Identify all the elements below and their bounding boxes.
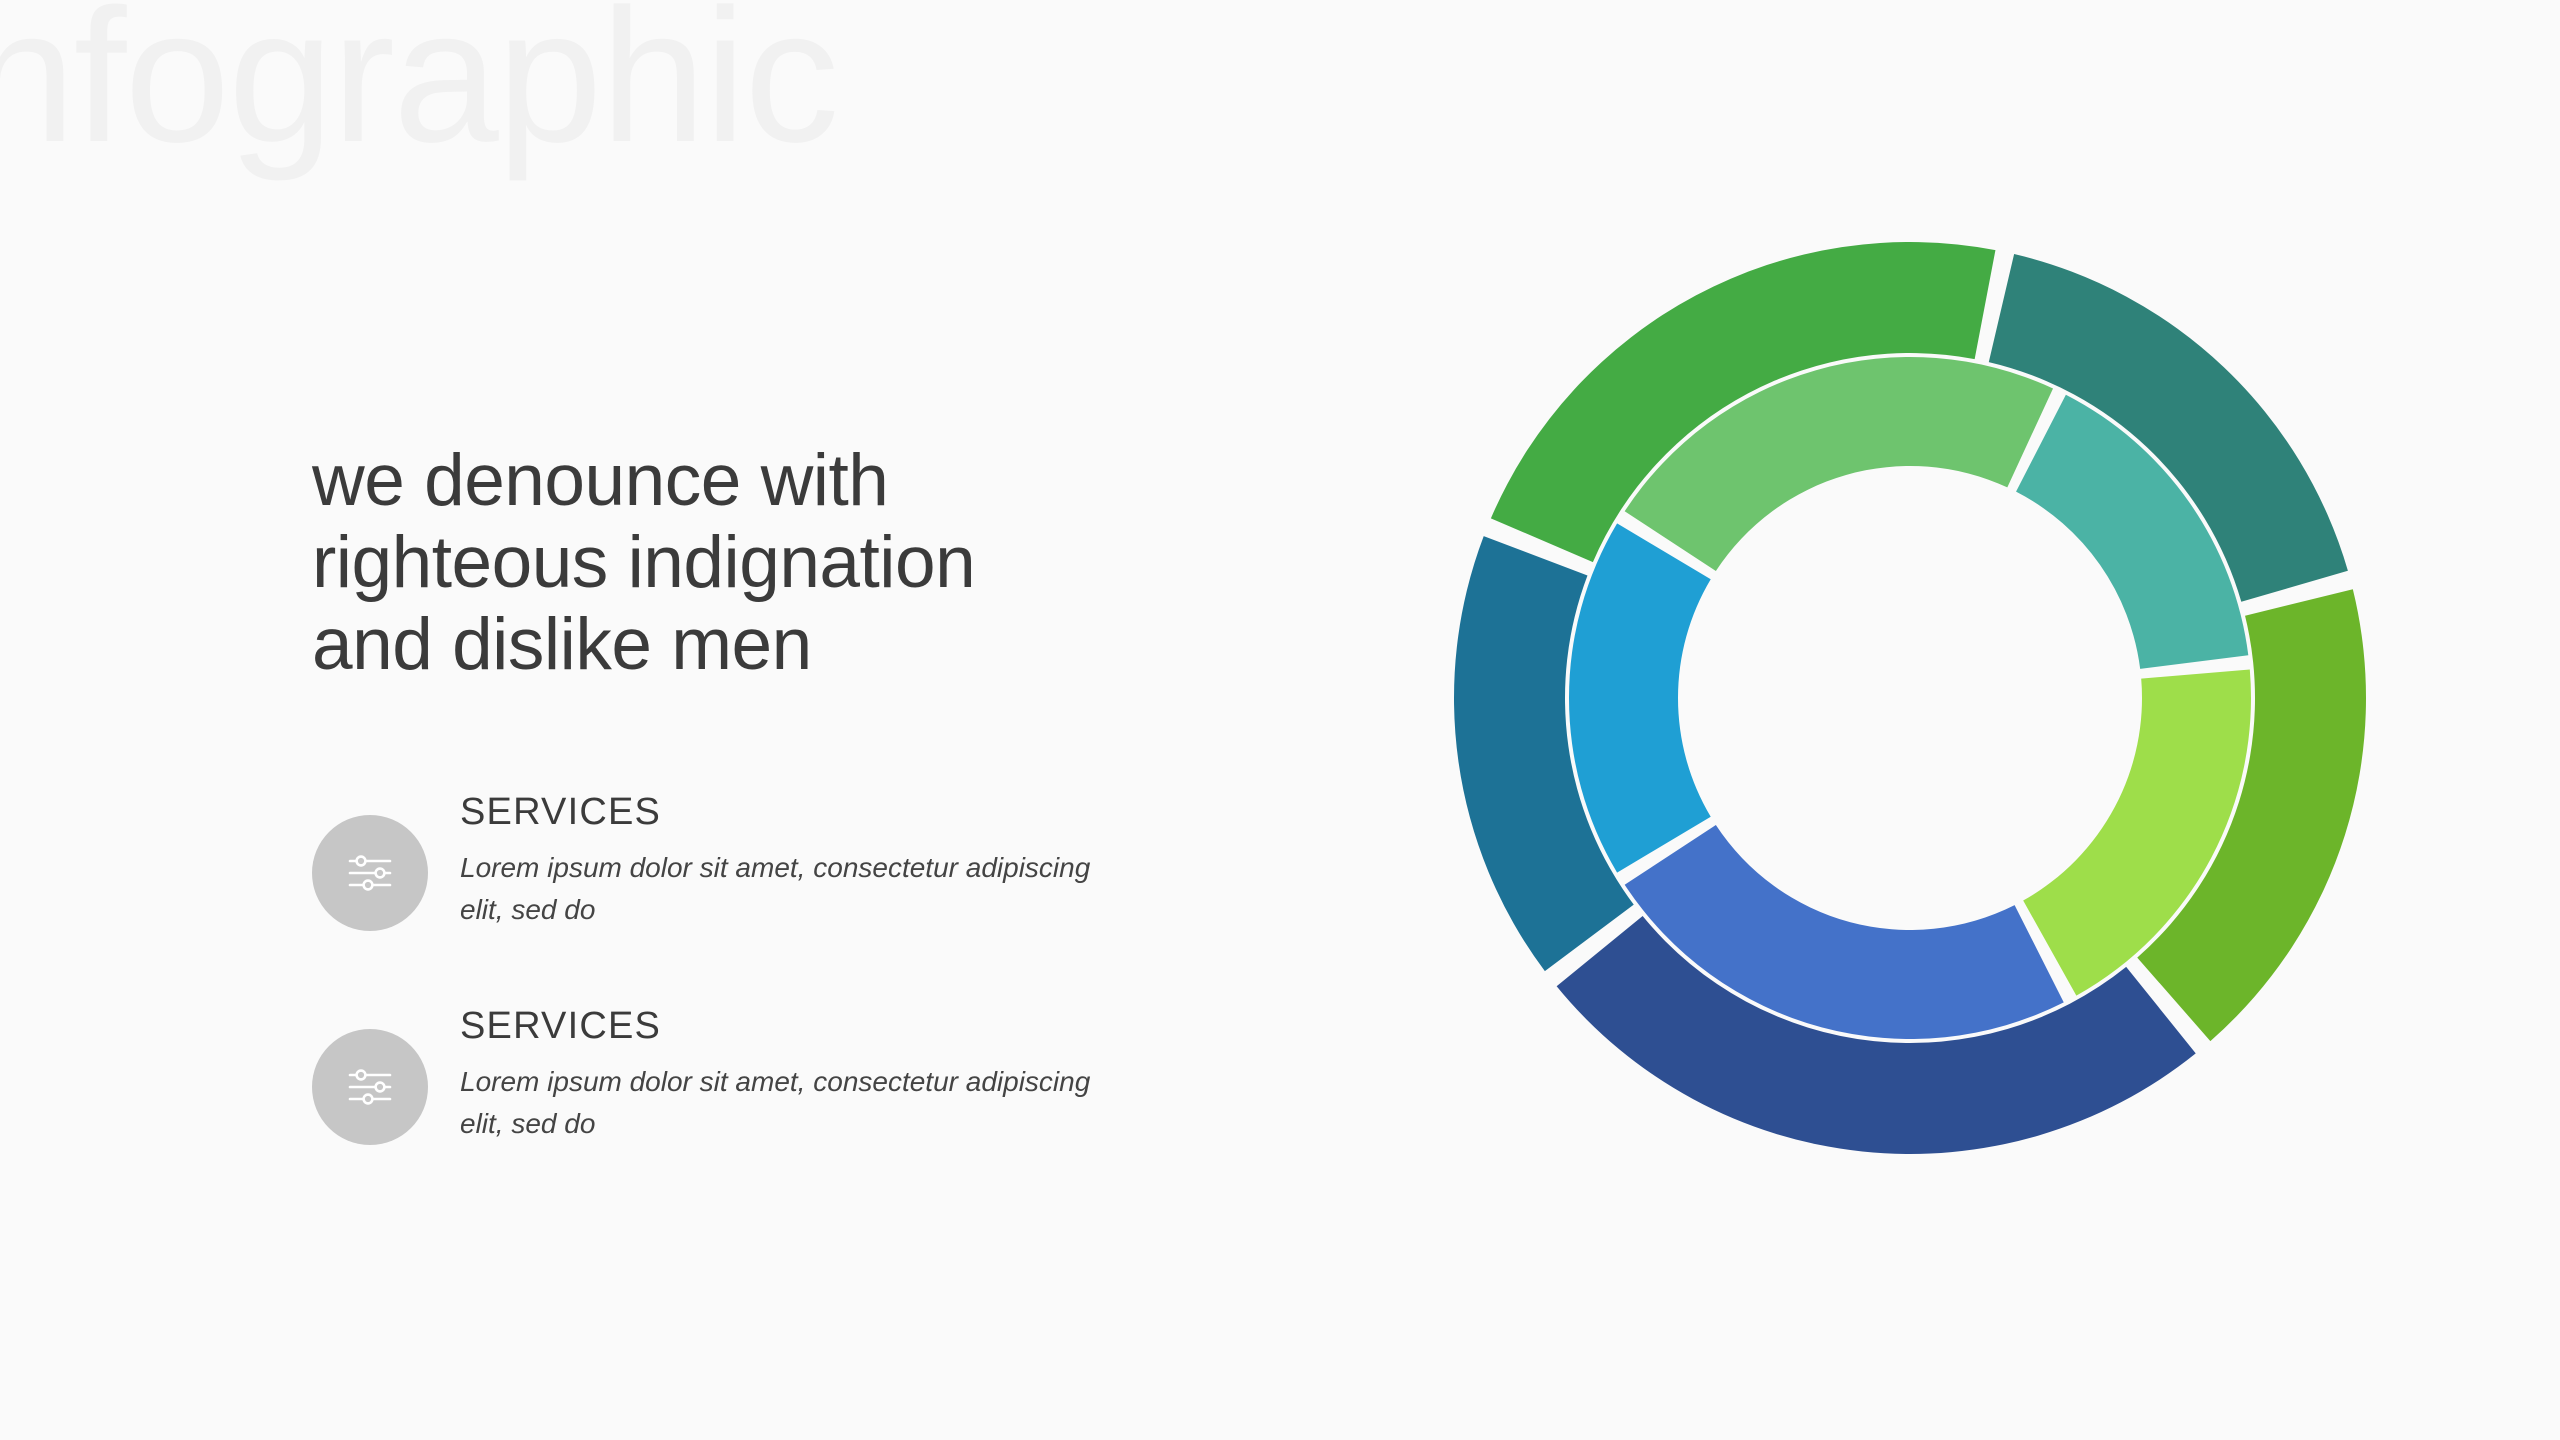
service-text: SERVICES Lorem ipsum dolor sit amet, con… [460, 1003, 1100, 1145]
donut-chart [1452, 240, 2368, 1156]
service-title: SERVICES [460, 793, 1100, 831]
services-list: SERVICES Lorem ipsum dolor sit amet, con… [312, 789, 1152, 1145]
service-description: Lorem ipsum dolor sit amet, consectetur … [460, 1061, 1100, 1145]
page-title: we denounce with righteous indignation a… [312, 440, 1152, 685]
watermark-text: nfographic [0, 0, 837, 190]
content-column: we denounce with righteous indignation a… [312, 440, 1152, 1145]
service-text: SERVICES Lorem ipsum dolor sit amet, con… [460, 789, 1100, 931]
donut-segment-cyan-blue[interactable] [1569, 523, 1711, 872]
sliders-icon [312, 1029, 428, 1145]
service-title: SERVICES [460, 1007, 1100, 1045]
donut-chart-svg [1452, 240, 2368, 1156]
sliders-icon [312, 815, 428, 931]
list-item[interactable]: SERVICES Lorem ipsum dolor sit amet, con… [312, 1003, 1152, 1145]
list-item[interactable]: SERVICES Lorem ipsum dolor sit amet, con… [312, 789, 1152, 931]
service-description: Lorem ipsum dolor sit amet, consectetur … [460, 847, 1100, 931]
